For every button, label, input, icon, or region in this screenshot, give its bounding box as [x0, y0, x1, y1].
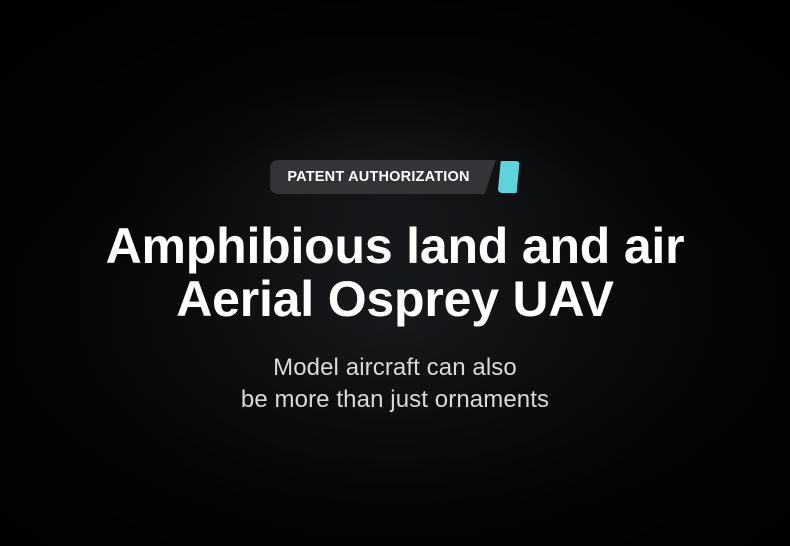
promo-hero-banner: PATENT AUTHORIZATION Amphibious land and…: [0, 0, 790, 546]
badge-accent-slash: [498, 161, 520, 193]
badge-plate: PATENT AUTHORIZATION: [270, 160, 495, 194]
patent-authorization-badge: PATENT AUTHORIZATION: [270, 160, 519, 194]
hero-content: PATENT AUTHORIZATION Amphibious land and…: [0, 0, 790, 546]
hero-headline-line-1: Amphibious land and air: [106, 220, 685, 273]
badge-label: PATENT AUTHORIZATION: [287, 170, 469, 185]
hero-subtitle-line-1: Model aircraft can also: [241, 352, 549, 384]
hero-headline: Amphibious land and air Aerial Osprey UA…: [106, 220, 685, 326]
hero-subtitle-line-2: be more than just ornaments: [241, 384, 549, 416]
hero-subtitle: Model aircraft can also be more than jus…: [241, 352, 549, 416]
hero-headline-line-2: Aerial Osprey UAV: [106, 273, 685, 326]
